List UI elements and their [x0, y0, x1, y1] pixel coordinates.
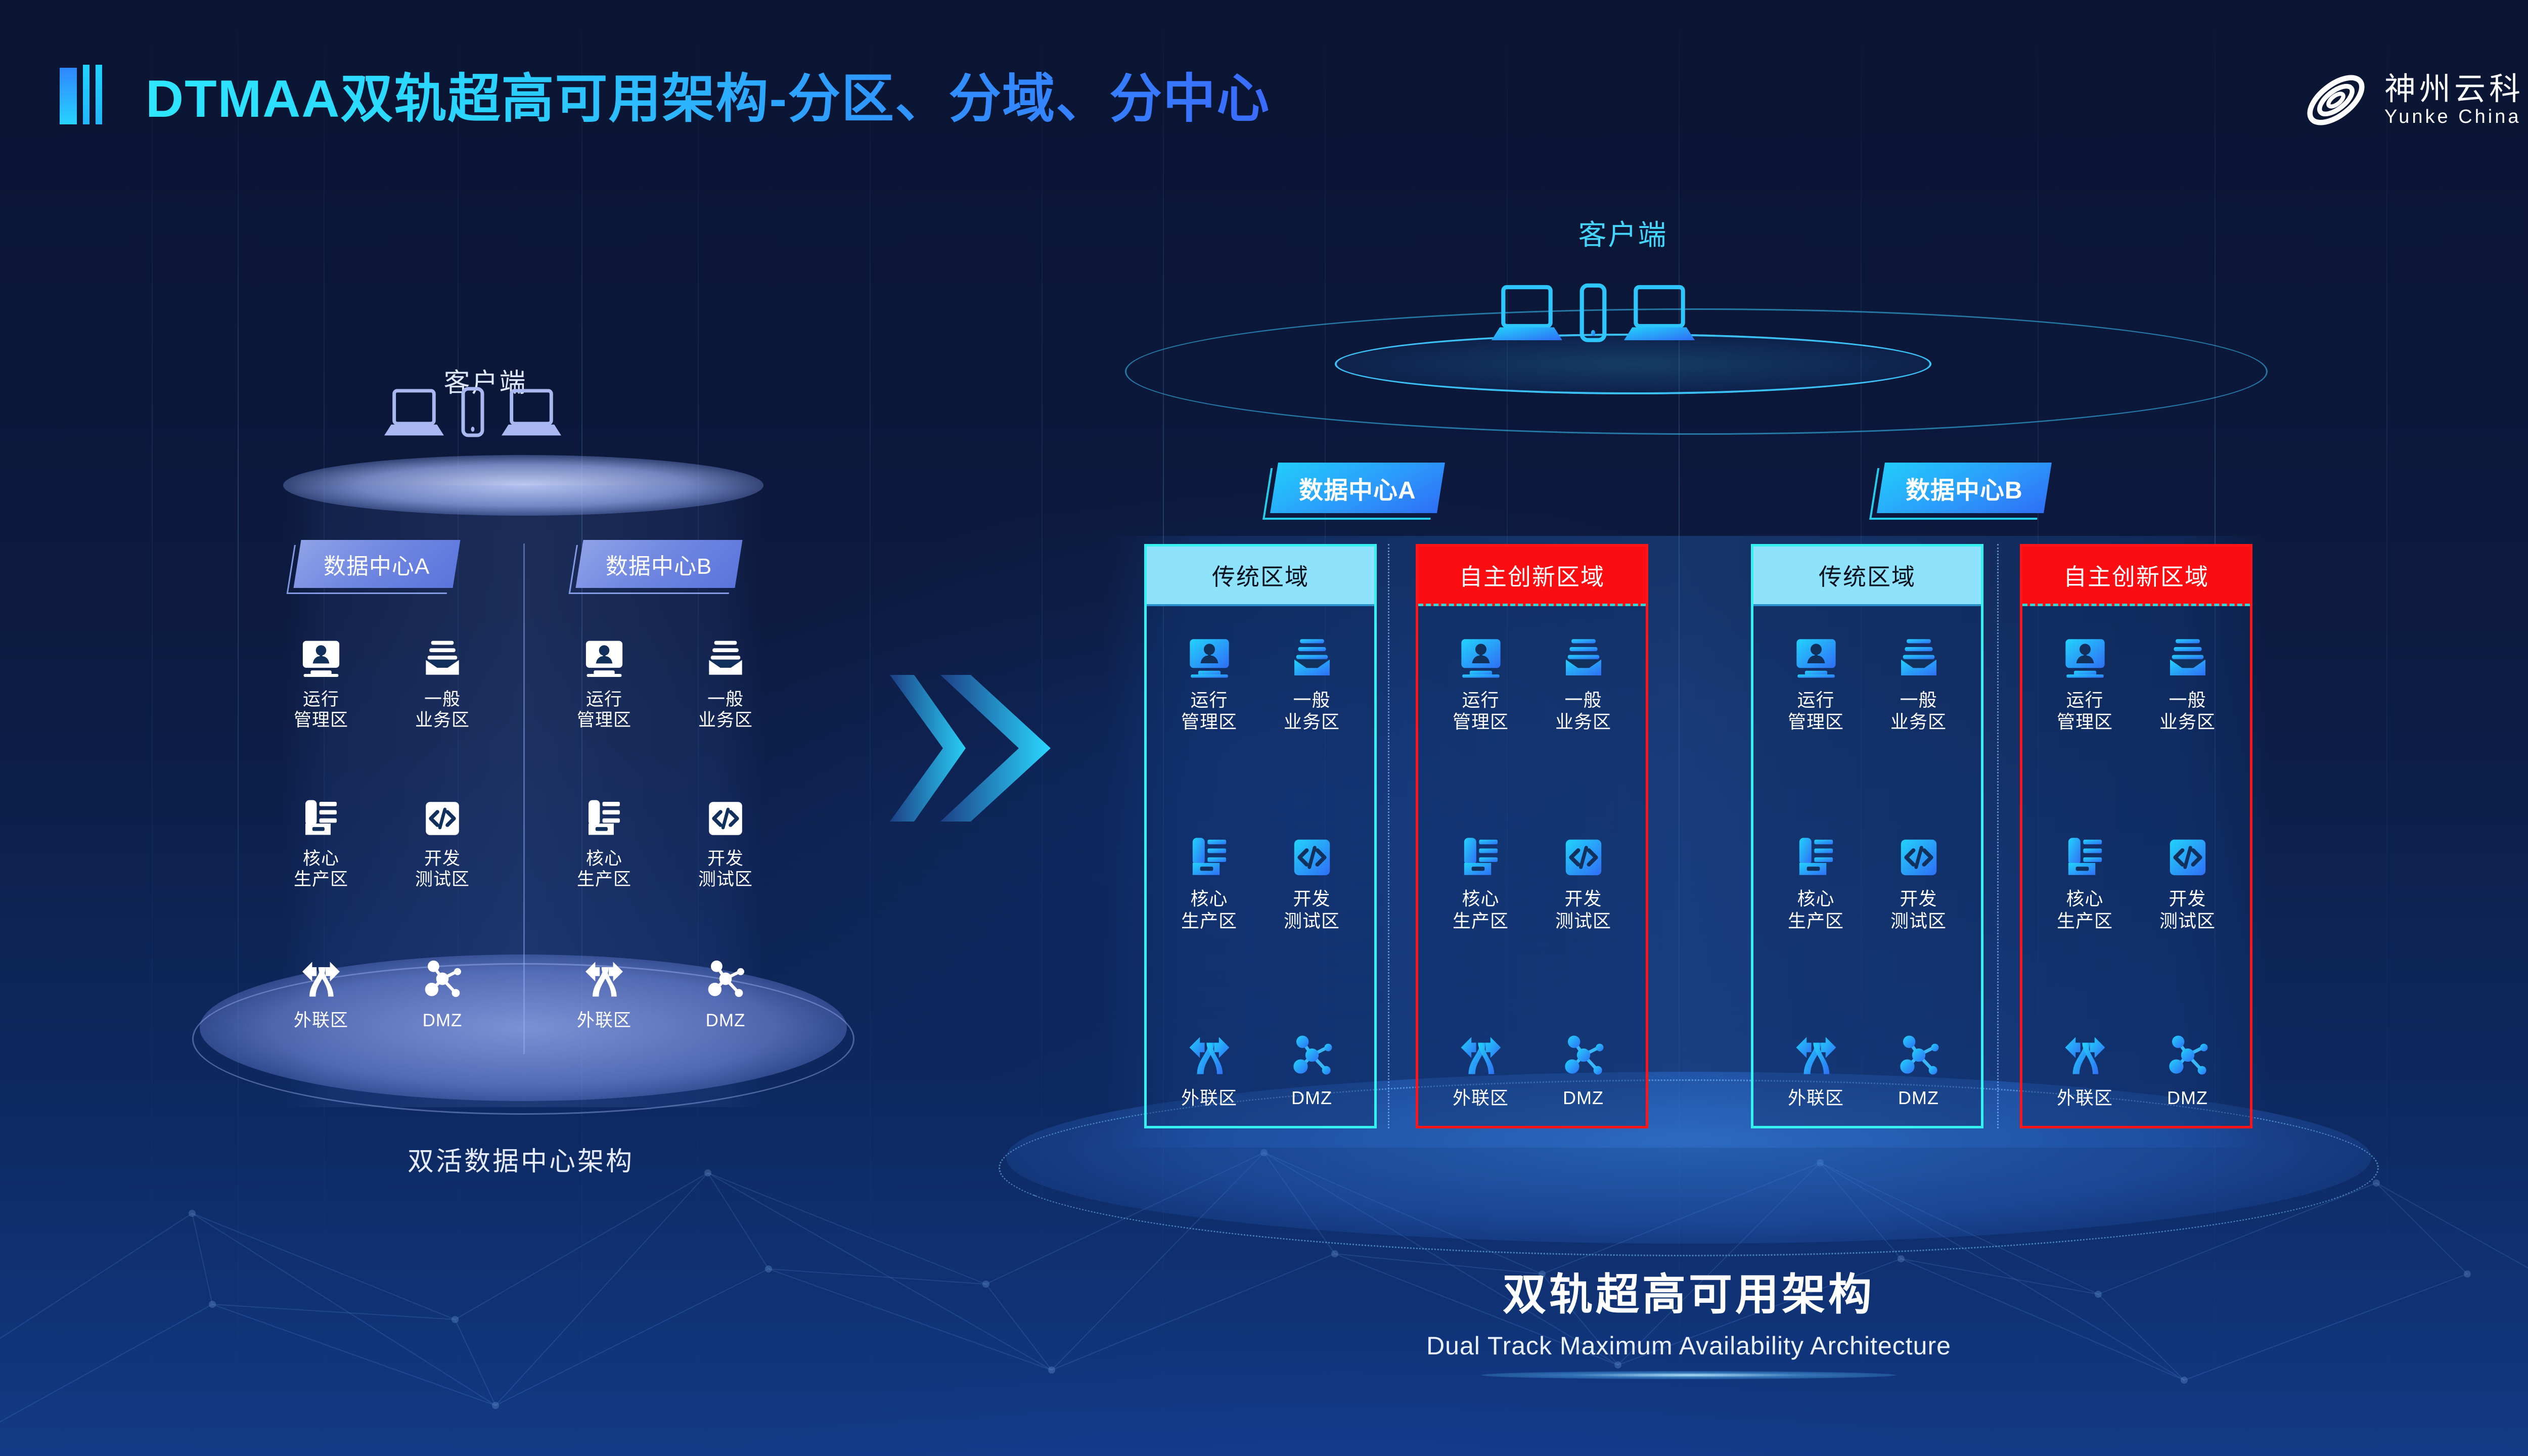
right-dc-badge-a: 数据中心A: [1270, 463, 1445, 513]
code-brackets-icon: [1561, 835, 1606, 880]
zone-label: DMZ: [394, 1010, 490, 1031]
zone-label: 一般业务区: [1532, 689, 1635, 733]
laptop-icon: [384, 388, 444, 437]
brand-name-en: Yunke China: [2384, 107, 2524, 126]
left-dc-badge-b: 数据中心B: [575, 540, 742, 588]
user-monitor-icon: [582, 636, 626, 680]
page-header: DTMAA双轨超高可用架构-分区、分域、分中心 神州云科 Yunke China: [0, 0, 2528, 192]
zone-label: 一般业务区: [1260, 689, 1363, 733]
zone-label: 外联区: [273, 1010, 369, 1031]
two-way-arrows-icon: [1457, 1031, 1505, 1079]
yunke-swirl-icon: [2300, 65, 2371, 135]
zone-dmz[interactable]: DMZ: [1532, 1026, 1635, 1109]
zone-general-biz[interactable]: 一般业务区: [2136, 628, 2239, 733]
zone-label: 核心生产区: [273, 848, 369, 890]
network-nodes-icon: [420, 957, 465, 1001]
user-monitor-icon: [1458, 634, 1504, 681]
inbox-icon: [1895, 634, 1942, 681]
zone-label: DMZ: [1260, 1087, 1363, 1109]
panel-header: 传统区域: [1147, 547, 1374, 606]
zone-dev-test[interactable]: 开发测试区: [2136, 827, 2239, 931]
user-monitor-icon: [1793, 634, 1839, 681]
zone-general-biz[interactable]: 一般业务区: [1532, 628, 1635, 733]
panel-header: 传统区域: [1753, 547, 1981, 606]
user-monitor-icon: [2062, 634, 2108, 681]
zone-label: 核心生产区: [1158, 888, 1260, 931]
zone-label: 开发测试区: [1532, 888, 1635, 931]
right-diagram-caption: 双轨超高可用架构 Dual Track Maximum Availability…: [1193, 1259, 2184, 1360]
zone-label: 一般业务区: [2136, 689, 2239, 733]
transition-chevrons: [890, 672, 1052, 824]
panel-header: 自主创新区域: [1418, 547, 1646, 606]
left-zone-b-dmz: DMZ: [678, 950, 774, 1031]
zone-label: DMZ: [678, 1010, 774, 1031]
zone-label: 核心生产区: [1429, 888, 1532, 931]
zone-label: 开发测试区: [1260, 888, 1363, 931]
panel-separator-2: [1997, 544, 1999, 1128]
left-dc-divider: [523, 543, 525, 1054]
right-client-stage: [1335, 334, 1931, 394]
network-nodes-icon: [1560, 1031, 1607, 1079]
left-zone-a-dmz: DMZ: [394, 950, 490, 1031]
inbox-icon: [1560, 634, 1607, 681]
server-rack-icon: [582, 796, 626, 839]
network-nodes-icon: [1895, 1031, 1943, 1079]
left-dc-badge-a-label: 数据中心A: [324, 548, 430, 580]
inbox-icon: [2164, 634, 2211, 681]
zone-label: 核心生产区: [2034, 888, 2136, 931]
panel-dc-b-traditional[interactable]: 传统区域 运行管理区 一般业务区 核心生产区 开发测试区 外联区 DMZ: [1751, 544, 1983, 1128]
zone-label: 开发测试区: [678, 848, 774, 890]
zone-core-prod[interactable]: 核心生产区: [1765, 827, 1867, 931]
zone-label: 核心生产区: [1765, 888, 1867, 931]
inbox-icon: [421, 636, 464, 680]
panel-dc-b-innovation[interactable]: 自主创新区域 运行管理区 一般业务区 核心生产区 开发测试区 外联区 DMZ: [2020, 544, 2252, 1128]
zone-label: 外联区: [1765, 1087, 1867, 1109]
left-zone-b-dev-test: 开发测试区: [678, 789, 774, 890]
zone-label: 核心生产区: [556, 848, 652, 890]
laptop-icon: [502, 388, 561, 437]
code-brackets-icon: [1290, 835, 1334, 880]
caption-glow-bar: [1481, 1371, 1896, 1379]
zone-label: 运行管理区: [2034, 689, 2136, 733]
zone-label: 外联区: [1158, 1087, 1260, 1109]
zone-label: 外联区: [1429, 1087, 1532, 1109]
left-zone-a-general-biz: 一般业务区: [394, 629, 490, 731]
zone-external[interactable]: 外联区: [2034, 1026, 2136, 1109]
zone-label: DMZ: [1867, 1087, 1970, 1109]
zone-label: 运行管理区: [1158, 689, 1260, 733]
code-brackets-icon: [705, 798, 746, 839]
zone-core-prod[interactable]: 核心生产区: [1158, 827, 1260, 931]
left-dc-badge-b-label: 数据中心B: [606, 548, 712, 580]
zone-core-prod[interactable]: 核心生产区: [1429, 827, 1532, 931]
inbox-icon: [704, 636, 747, 680]
zone-label: 运行管理区: [556, 689, 652, 731]
right-client-label: 客户端: [1497, 212, 1749, 253]
zone-label: 开发测试区: [394, 848, 490, 890]
phone-icon: [461, 387, 484, 437]
zone-dev-test[interactable]: 开发测试区: [1867, 827, 1970, 931]
two-way-arrows-icon: [2061, 1031, 2109, 1079]
zone-run-mgmt[interactable]: 运行管理区: [1765, 628, 1867, 733]
zone-label: 运行管理区: [1429, 689, 1532, 733]
zone-label: DMZ: [1532, 1087, 1635, 1109]
zone-label: 外联区: [556, 1010, 652, 1031]
server-rack-icon: [2062, 833, 2108, 880]
zone-general-biz[interactable]: 一般业务区: [1260, 628, 1363, 733]
left-zone-b-general-biz: 一般业务区: [678, 629, 774, 731]
two-way-arrows-icon: [299, 957, 343, 1001]
zone-label: 一般业务区: [678, 689, 774, 731]
zone-label: DMZ: [2136, 1087, 2239, 1109]
right-caption-cn: 双轨超高可用架构: [1193, 1259, 2184, 1322]
right-client-devices: [1492, 283, 1695, 342]
zone-run-mgmt[interactable]: 运行管理区: [1429, 628, 1532, 733]
panel-dc-a-innovation[interactable]: 自主创新区域 运行管理区 一般业务区 核心生产区 开发测试区 外联区 DMZ: [1416, 544, 1648, 1128]
zone-run-mgmt[interactable]: 运行管理区: [2034, 628, 2136, 733]
left-diagram-caption: 双活数据中心架构: [222, 1140, 819, 1178]
left-zone-a-external: 外联区: [273, 950, 369, 1031]
server-rack-icon: [1793, 833, 1839, 880]
zone-external[interactable]: 外联区: [1158, 1026, 1260, 1109]
zone-label: 一般业务区: [394, 689, 490, 731]
code-brackets-icon: [422, 798, 463, 839]
zone-dev-test[interactable]: 开发测试区: [1532, 827, 1635, 931]
left-dc-badge-a: 数据中心A: [293, 540, 460, 588]
left-zone-b-external: 外联区: [556, 950, 652, 1031]
right-caption-en: Dual Track Maximum Availability Architec…: [1193, 1331, 2184, 1360]
panel-separator-1: [1388, 544, 1389, 1128]
zone-dmz[interactable]: DMZ: [1867, 1026, 1970, 1109]
left-zone-b-run-mgmt: 运行管理区: [556, 629, 652, 731]
panel-header: 自主创新区域: [2022, 547, 2250, 606]
server-rack-icon: [299, 796, 343, 839]
server-rack-icon: [1458, 833, 1504, 880]
code-brackets-icon: [2165, 835, 2210, 880]
right-dc-badge-b: 数据中心B: [1877, 463, 2052, 513]
left-zone-a-run-mgmt: 运行管理区: [273, 629, 369, 731]
zone-label: 外联区: [2034, 1087, 2136, 1109]
two-way-arrows-icon: [1186, 1031, 1233, 1079]
code-brackets-icon: [1897, 835, 1941, 880]
laptop-icon: [1624, 284, 1695, 343]
laptop-icon: [1492, 284, 1562, 343]
page-title: DTMAA双轨超高可用架构-分区、分域、分中心: [146, 56, 1270, 132]
left-zone-a-core-prod: 核心生产区: [273, 789, 369, 890]
right-dc-badge-b-label: 数据中心B: [1906, 470, 2023, 506]
server-rack-icon: [1186, 833, 1233, 880]
two-way-arrows-icon: [582, 957, 626, 1001]
zone-label: 运行管理区: [1765, 689, 1867, 733]
zone-label: 运行管理区: [273, 689, 369, 731]
panel-dc-a-traditional[interactable]: 传统区域 运行管理区 一般业务区 核心生产区 开发测试区 外联区 DMZ: [1144, 544, 1377, 1128]
zone-label: 开发测试区: [1867, 888, 1970, 931]
left-client-devices: [384, 387, 561, 437]
inbox-icon: [1289, 634, 1335, 681]
right-dc-badge-a-label: 数据中心A: [1299, 470, 1416, 506]
network-nodes-icon: [703, 957, 748, 1001]
left-zone-b-core-prod: 核心生产区: [556, 789, 652, 890]
brand-name-cn: 神州云科: [2384, 74, 2524, 105]
title-accent-bars: [60, 65, 102, 124]
network-nodes-icon: [1288, 1031, 1336, 1079]
user-monitor-icon: [299, 636, 343, 680]
left-zone-a-dev-test: 开发测试区: [394, 789, 490, 890]
two-way-arrows-icon: [1792, 1031, 1840, 1079]
zone-label: 一般业务区: [1867, 689, 1970, 733]
zone-dev-test[interactable]: 开发测试区: [1260, 827, 1363, 931]
zone-external[interactable]: 外联区: [1765, 1026, 1867, 1109]
brand-logo: 神州云科 Yunke China: [2300, 65, 2524, 135]
user-monitor-icon: [1186, 634, 1233, 681]
zone-dmz[interactable]: DMZ: [1260, 1026, 1363, 1109]
zone-core-prod[interactable]: 核心生产区: [2034, 827, 2136, 931]
zone-general-biz[interactable]: 一般业务区: [1867, 628, 1970, 733]
zone-dmz[interactable]: DMZ: [2136, 1026, 2239, 1109]
zone-run-mgmt[interactable]: 运行管理区: [1158, 628, 1260, 733]
zone-label: 开发测试区: [2136, 888, 2239, 931]
network-nodes-icon: [2164, 1031, 2211, 1079]
phone-icon: [1579, 283, 1607, 342]
zone-external[interactable]: 外联区: [1429, 1026, 1532, 1109]
